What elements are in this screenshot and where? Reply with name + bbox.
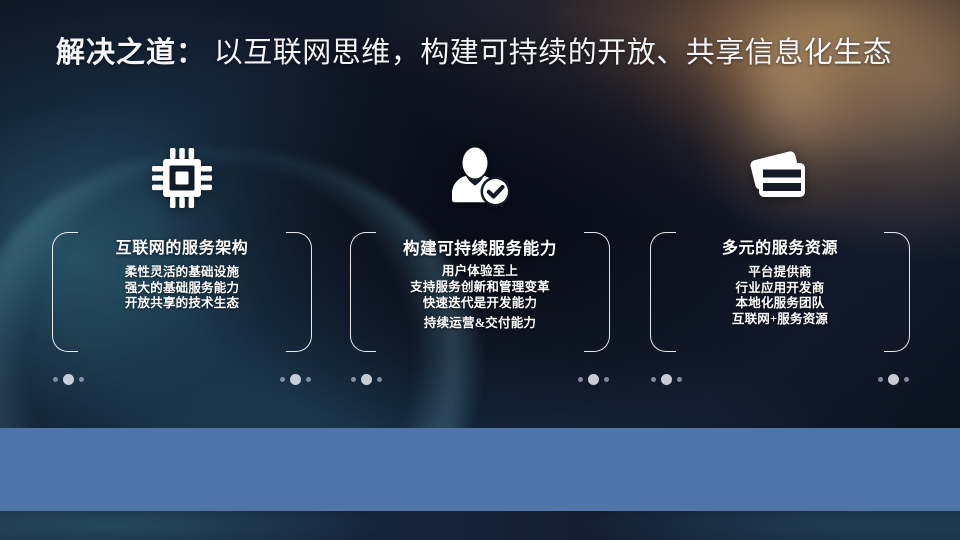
column-item-list: 用户体验至上 支持服务创新和管理变革 快速迭代是开发能力 持续运营&交付能力: [368, 263, 592, 331]
dot-large: [588, 374, 599, 385]
list-item: 快速迭代是开发能力: [368, 295, 592, 311]
dot-cluster-right: [578, 374, 609, 385]
dot-cluster-right: [280, 374, 311, 385]
user-verified-icon: [350, 136, 610, 220]
dot-cluster-left: [351, 374, 382, 385]
dot-large: [361, 374, 372, 385]
dot-large: [888, 374, 899, 385]
dot-cluster-left: [651, 374, 682, 385]
list-item: 互联网+服务资源: [668, 312, 892, 328]
bottom-strip: [0, 511, 960, 540]
dot-small: [677, 377, 682, 382]
dot-large: [661, 374, 672, 385]
column-heading: 多元的服务资源: [668, 238, 892, 260]
list-item: 平台提供商: [668, 265, 892, 281]
bottom-accent-band: [0, 428, 960, 511]
dot-small: [306, 377, 311, 382]
list-item: 用户体验至上: [368, 263, 592, 279]
dot-small: [878, 377, 883, 382]
list-item: 开放共享的技术生态: [70, 296, 294, 312]
dot-cluster-right: [878, 374, 909, 385]
cpu-chip-icon: [52, 136, 312, 220]
list-item: 强大的基础服务能力: [70, 281, 294, 297]
dot-small: [377, 377, 382, 382]
column-text: 构建可持续服务能力 用户体验至上 支持服务创新和管理变革 快速迭代是开发能力 持…: [368, 232, 592, 352]
dot-small: [578, 377, 583, 382]
column-text: 互联网的服务架构 柔性灵活的基础设施 强大的基础服务能力 开放共享的技术生态: [70, 232, 294, 352]
column-heading: 互联网的服务架构: [70, 238, 294, 260]
column-text: 多元的服务资源 平台提供商 行业应用开发商 本地化服务团队 互联网+服务资源: [668, 232, 892, 352]
dot-small: [604, 377, 609, 382]
content-column: 互联网的服务架构 柔性灵活的基础设施 强大的基础服务能力 开放共享的技术生态: [52, 136, 312, 386]
list-item: 支持服务创新和管理变革: [368, 279, 592, 295]
dot-large: [63, 374, 74, 385]
content-column: 构建可持续服务能力 用户体验至上 支持服务创新和管理变革 快速迭代是开发能力 持…: [350, 136, 610, 386]
content-column: 多元的服务资源 平台提供商 行业应用开发商 本地化服务团队 互联网+服务资源: [650, 136, 910, 386]
presentation-slide: 解决之道： 以互联网思维，构建可持续的开放、共享信息化生态: [0, 0, 960, 540]
dot-small: [53, 377, 58, 382]
column-item-list: 柔性灵活的基础设施 强大的基础服务能力 开放共享的技术生态: [70, 265, 294, 312]
dot-small: [79, 377, 84, 382]
column-heading: 构建可持续服务能力: [368, 238, 592, 260]
dot-cluster-left: [53, 374, 84, 385]
list-item: 柔性灵活的基础设施: [70, 265, 294, 281]
dot-large: [290, 374, 301, 385]
column-item-list: 平台提供商 行业应用开发商 本地化服务团队 互联网+服务资源: [668, 265, 892, 327]
list-item: 本地化服务团队: [668, 296, 892, 312]
list-item: 行业应用开发商: [668, 281, 892, 297]
dot-small: [280, 377, 285, 382]
dot-small: [904, 377, 909, 382]
dot-small: [651, 377, 656, 382]
dot-small: [351, 377, 356, 382]
list-item: 持续运营&交付能力: [368, 315, 592, 331]
payment-cards-icon: [650, 136, 910, 220]
